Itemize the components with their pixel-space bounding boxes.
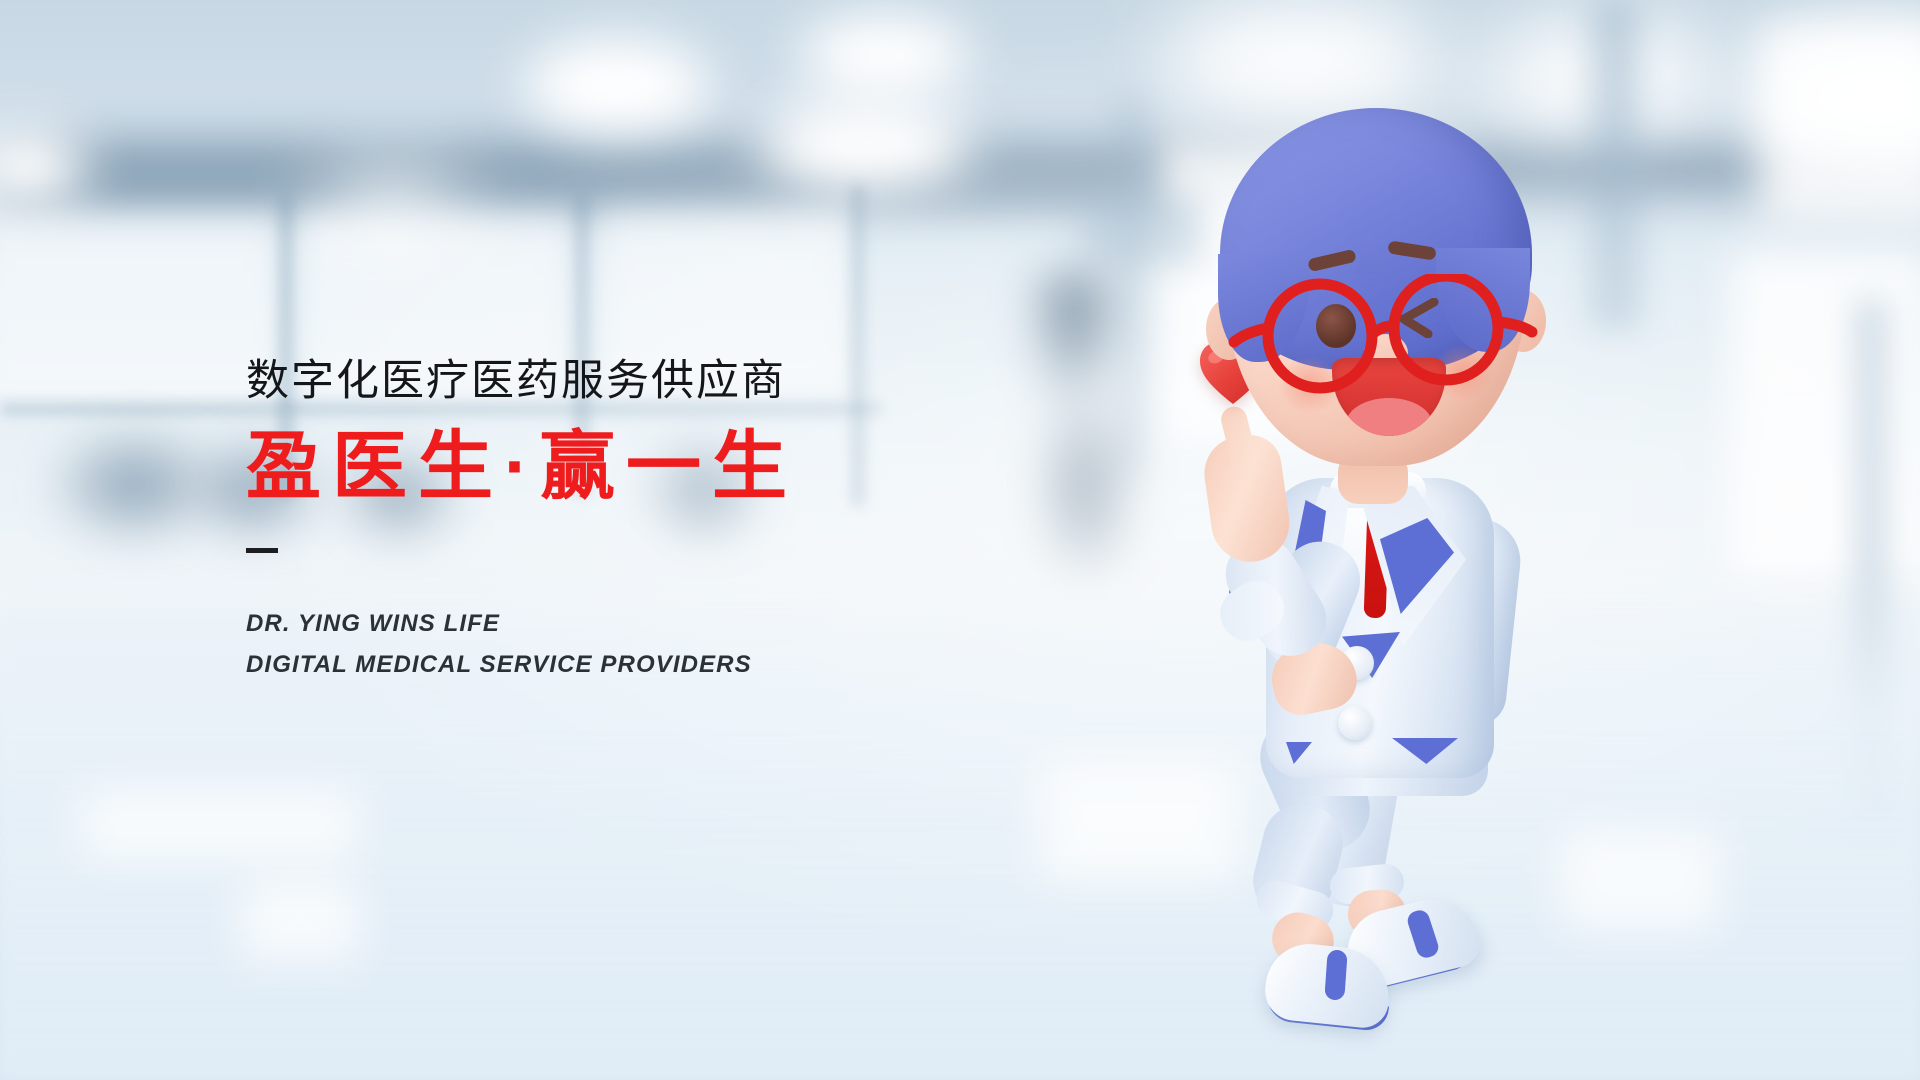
hero-english-lines: DR. YING WINS LIFE DIGITAL MEDICAL SERVI… <box>246 603 986 686</box>
tongue <box>1346 398 1432 436</box>
hero-english-line-1: DR. YING WINS LIFE <box>246 603 986 644</box>
ceiling-light-icon <box>800 14 970 98</box>
shoe-strap <box>1324 949 1347 1000</box>
window-panel <box>1730 250 1920 580</box>
floor-reflection <box>80 790 360 860</box>
hero-copy: 数字化医疗医药服务供应商 盈医生·赢一生 DR. YING WINS LIFE … <box>246 356 986 685</box>
floor-reflection <box>240 880 360 960</box>
glasses-icon <box>1208 274 1548 394</box>
doctor-mascot-illustration <box>1180 48 1600 1058</box>
ceiling-light-icon <box>760 100 970 192</box>
hero-subheading: 数字化医疗医药服务供应商 <box>246 356 986 407</box>
hero-banner: 数字化医疗医药服务供应商 盈医生·赢一生 DR. YING WINS LIFE … <box>0 0 1920 1080</box>
hero-english-line-2: DIGITAL MEDICAL SERVICE PROVIDERS <box>246 644 986 685</box>
ceiling-light-icon <box>524 38 710 134</box>
glass-panel <box>0 214 280 410</box>
window-panel <box>1760 24 1920 224</box>
coat-button <box>1338 706 1372 740</box>
person-silhouette <box>1032 380 1142 590</box>
hero-headline: 盈医生·赢一生 <box>246 423 986 510</box>
divider-rule <box>246 548 278 553</box>
